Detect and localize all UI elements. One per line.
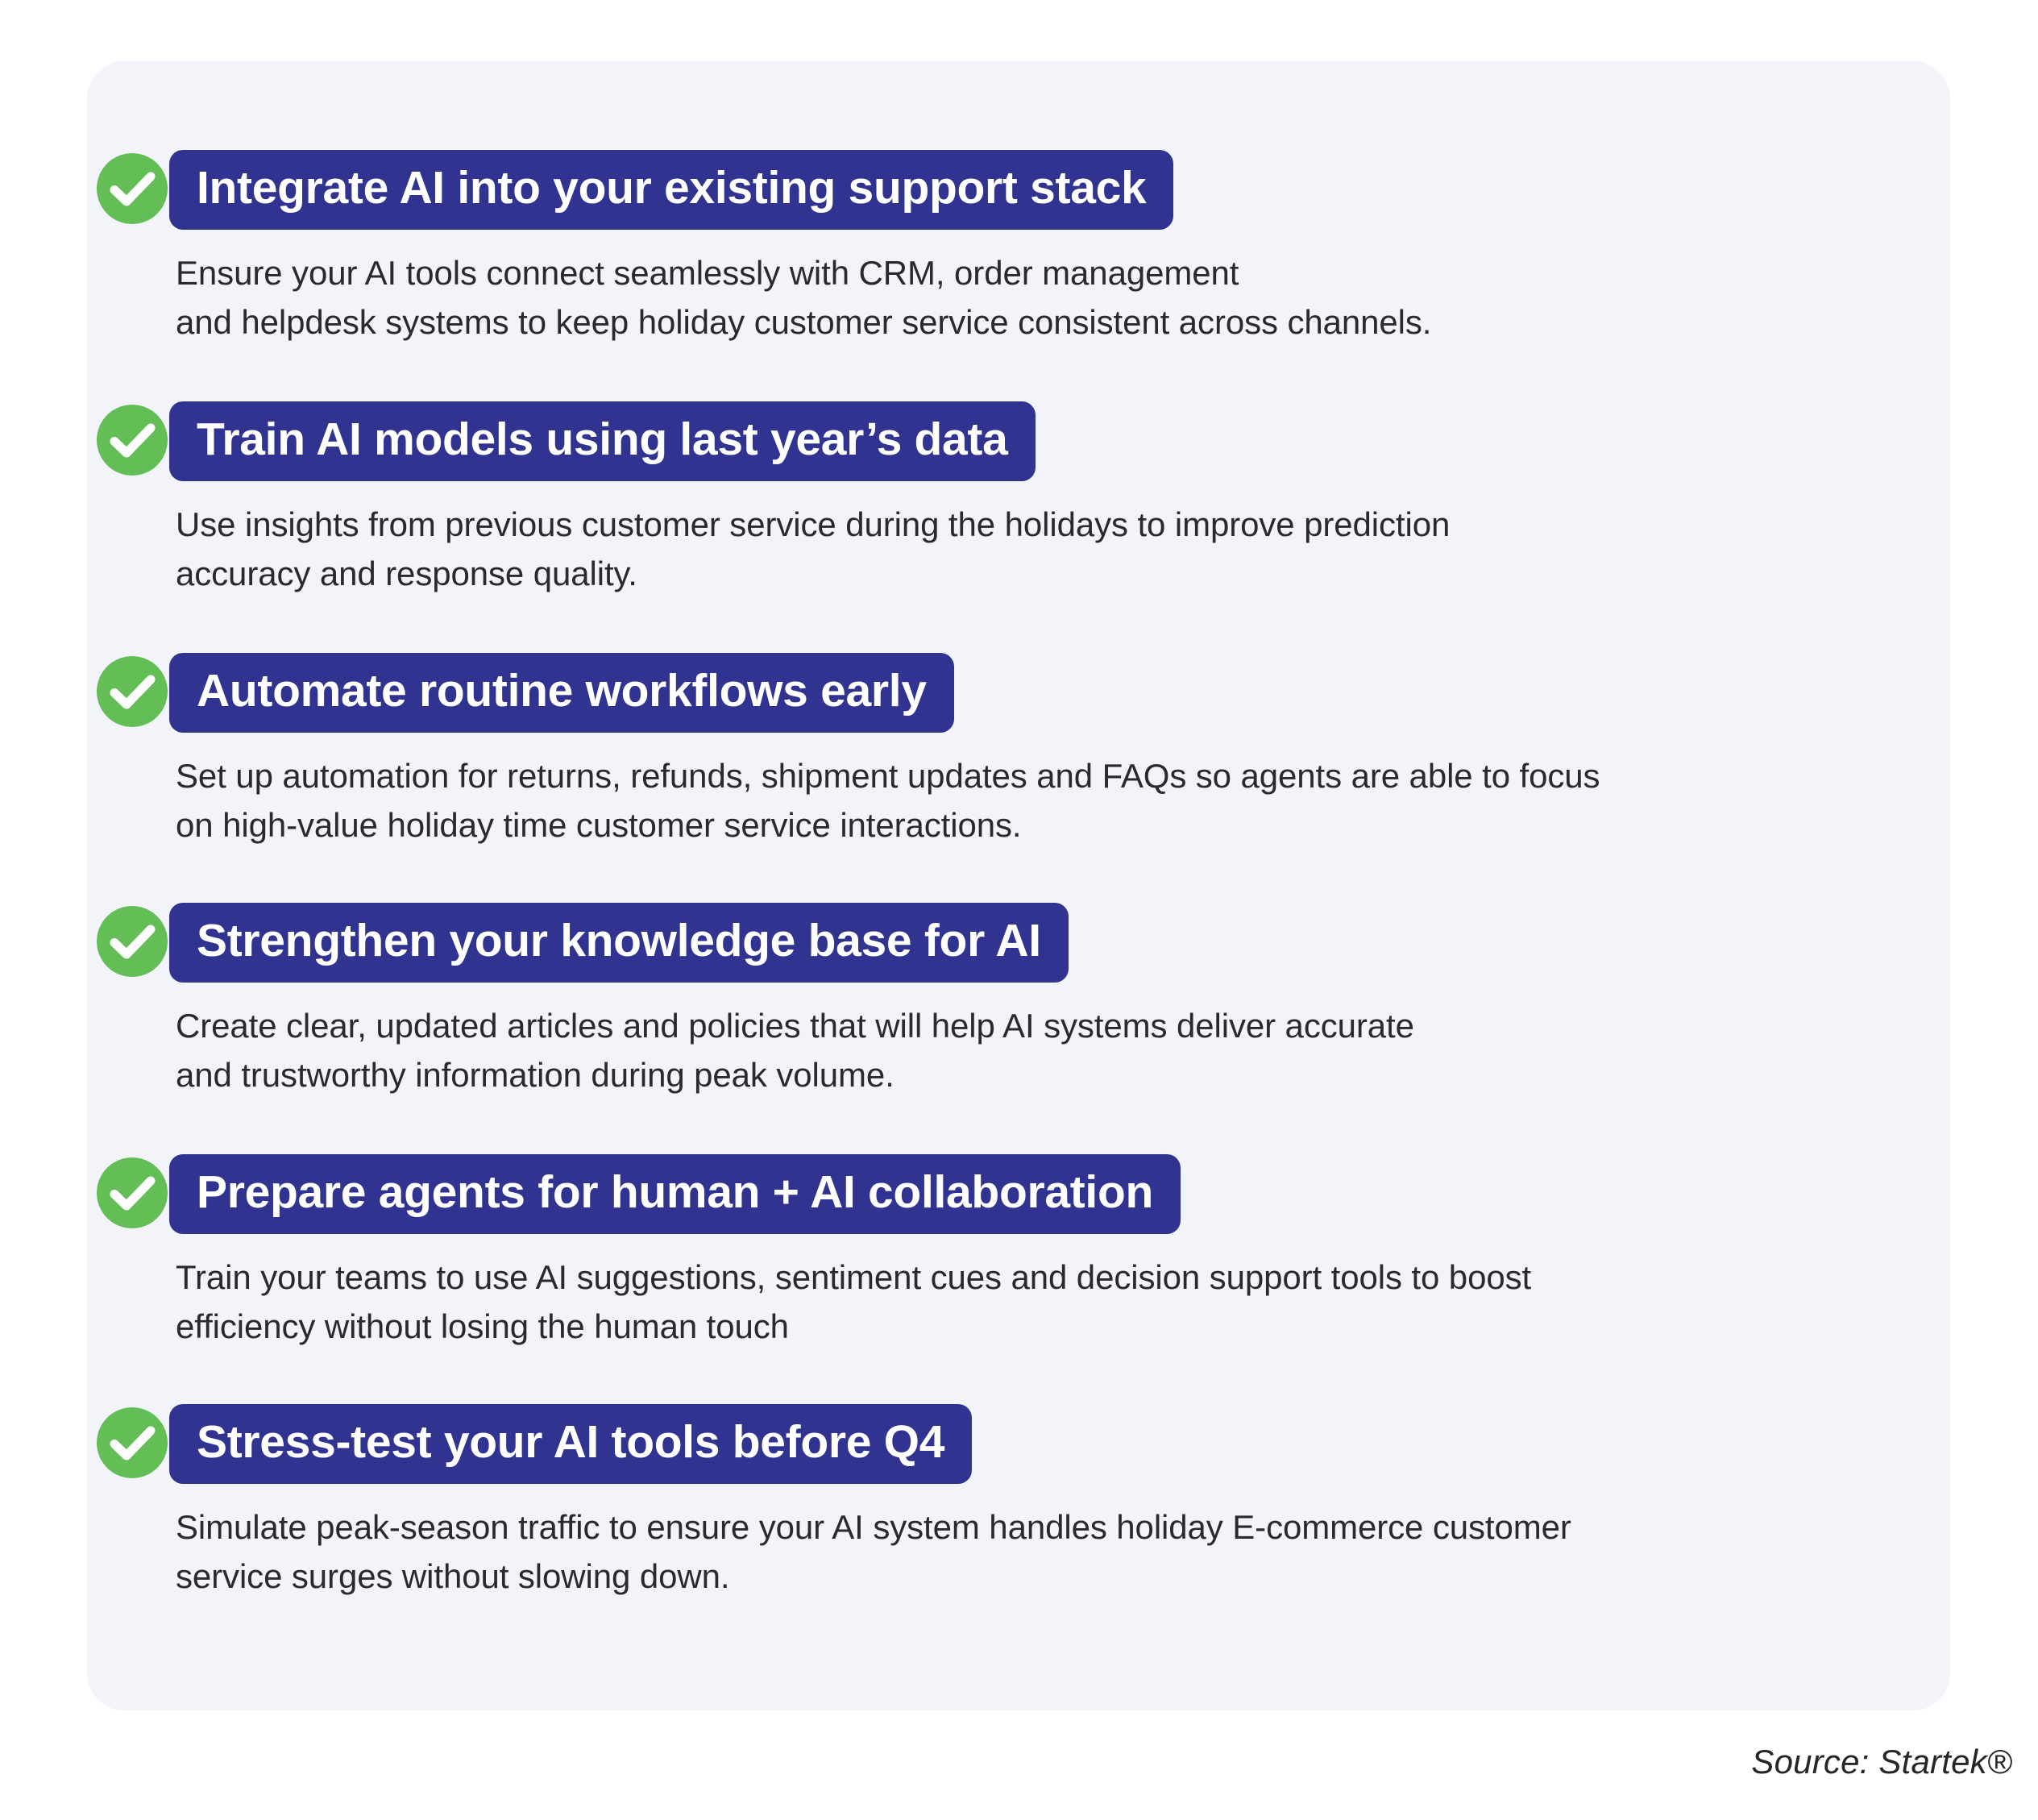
item-heading-pill: Prepare agents for human + AI collaborat… (169, 1154, 1181, 1234)
item-heading-pill: Strengthen your knowledge base for AI (169, 903, 1069, 983)
item-heading-pill: Stress-test your AI tools before Q4 (169, 1404, 972, 1484)
green-check-circle-icon (97, 906, 168, 977)
source-attribution: Source: Startek® (1751, 1743, 2012, 1781)
list-item-header: Prepare agents for human + AI collaborat… (87, 1157, 1950, 1236)
list-item: Prepare agents for human + AI collaborat… (87, 1157, 1950, 1236)
list-item-header: Stress-test your AI tools before Q4 (87, 1407, 1950, 1486)
list-item-header: Strengthen your knowledge base for AI (87, 906, 1950, 985)
list-item-header: Integrate AI into your existing support … (87, 153, 1950, 232)
green-check-circle-icon (97, 1157, 168, 1228)
green-check-circle-icon (97, 1407, 168, 1478)
list-item-header: Automate routine workflows early (87, 656, 1950, 735)
list-item-header: Train AI models using last year’s data (87, 405, 1950, 484)
item-heading-pill: Train AI models using last year’s data (169, 401, 1036, 481)
list-item: Train AI models using last year’s data U… (87, 405, 1950, 484)
list-item: Integrate AI into your existing support … (87, 153, 1950, 232)
item-description: Simulate peak-season traffic to ensure y… (176, 1502, 1868, 1602)
item-description: Create clear, updated articles and polic… (176, 1001, 1868, 1100)
item-description: Train your teams to use AI suggestions, … (176, 1253, 1868, 1352)
infographic-page: Integrate AI into your existing support … (0, 0, 2038, 1820)
checklist-card: Integrate AI into your existing support … (87, 61, 1950, 1710)
item-description: Use insights from previous customer serv… (176, 500, 1868, 599)
green-check-circle-icon (97, 656, 168, 727)
green-check-circle-icon (97, 153, 168, 224)
list-item: Automate routine workflows early Set up … (87, 656, 1950, 735)
list-item: Stress-test your AI tools before Q4 Simu… (87, 1407, 1950, 1486)
item-heading-pill: Integrate AI into your existing support … (169, 150, 1173, 230)
list-item: Strengthen your knowledge base for AI Cr… (87, 906, 1950, 985)
green-check-circle-icon (97, 405, 168, 476)
item-heading-pill: Automate routine workflows early (169, 653, 954, 733)
item-description: Ensure your AI tools connect seamlessly … (176, 248, 1868, 347)
item-description: Set up automation for returns, refunds, … (176, 751, 1868, 850)
